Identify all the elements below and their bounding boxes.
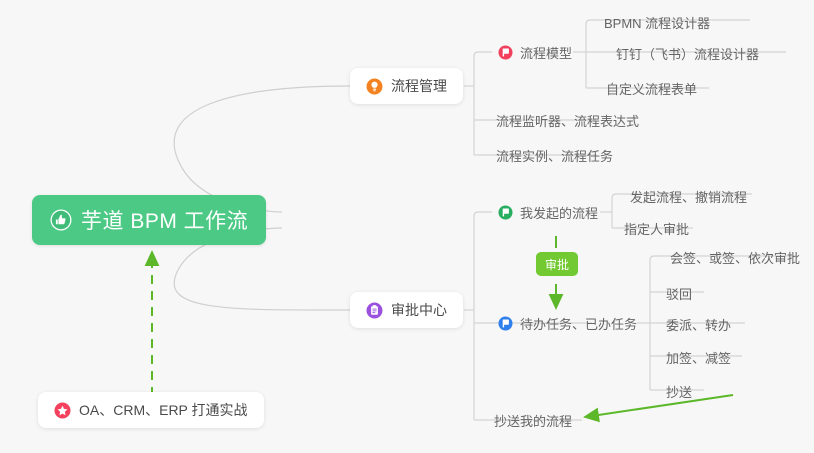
node-carbon-copy[interactable]: 抄送 [660, 378, 698, 404]
node-delegate-transfer[interactable]: 委派、转办 [660, 311, 737, 337]
node-start-cancel-process[interactable]: 发起流程、撤销流程 [624, 183, 753, 209]
node-process-listener-expression[interactable]: 流程监听器、流程表达式 [490, 107, 645, 133]
branch-node-approval-center[interactable]: 审批中心 [350, 292, 463, 328]
node-designated-approver[interactable]: 指定人审批 [618, 215, 695, 241]
root-node-label: 芋道 BPM 工作流 [81, 205, 248, 235]
node-dingtalk-feishu-designer[interactable]: 钉钉（飞书）流程设计器 [610, 40, 765, 66]
node-label-countersign-approval: 会签、或签、依次审批 [670, 248, 800, 267]
node-cc-to-me-process[interactable]: 抄送我的流程 [488, 407, 578, 433]
branch1-connectors [464, 52, 597, 155]
flag-icon [498, 316, 513, 331]
node-reject[interactable]: 驳回 [660, 280, 698, 306]
clipboard-icon [366, 302, 383, 319]
tag-label-approval: 审批 [545, 256, 569, 273]
flag-icon [498, 45, 513, 60]
root-node[interactable]: 芋道 BPM 工作流 [32, 195, 266, 245]
floating-card-oa-crm-erp[interactable]: OA、CRM、ERP 打通实战 [38, 392, 264, 428]
node-process-model[interactable]: 流程模型 [492, 39, 578, 65]
node-label-start-cancel-process: 发起流程、撤销流程 [630, 187, 747, 206]
node-label-add-remove-sign: 加签、减签 [666, 348, 731, 367]
node-process-instance-task[interactable]: 流程实例、流程任务 [490, 142, 619, 168]
floating-card-label-oa-crm-erp: OA、CRM、ERP 打通实战 [79, 400, 248, 420]
node-todo-done-tasks[interactable]: 待办任务、已办任务 [492, 310, 643, 336]
star-icon [54, 402, 71, 419]
bulb-pin-icon [366, 78, 383, 95]
node-countersign-approval[interactable]: 会签、或签、依次审批 [664, 244, 806, 270]
node-bpmn-designer[interactable]: BPMN 流程设计器 [598, 9, 716, 35]
node-label-my-initiated-process: 我发起的流程 [520, 203, 598, 222]
node-label-reject: 驳回 [666, 284, 692, 303]
node-label-todo-done-tasks: 待办任务、已办任务 [520, 314, 637, 333]
node-label-carbon-copy: 抄送 [666, 382, 692, 401]
node-label-dingtalk-feishu-designer: 钉钉（飞书）流程设计器 [616, 44, 759, 63]
node-label-cc-to-me-process: 抄送我的流程 [494, 411, 572, 430]
tag-approval[interactable]: 审批 [536, 252, 578, 276]
node-label-designated-approver: 指定人审批 [624, 219, 689, 238]
node-label-process-listener-expression: 流程监听器、流程表达式 [496, 111, 639, 130]
mindmap-canvas: 芋道 BPM 工作流 流程管理 流程模型 BPMN 流程设计器 钉钉（飞书）流程… [0, 0, 814, 453]
branch-node-process-management[interactable]: 流程管理 [350, 68, 463, 104]
node-label-process-instance-task: 流程实例、流程任务 [496, 146, 613, 165]
node-label-bpmn-designer: BPMN 流程设计器 [604, 13, 710, 32]
node-my-initiated-process[interactable]: 我发起的流程 [492, 199, 604, 225]
node-label-delegate-transfer: 委派、转办 [666, 315, 731, 334]
arrow-chaosong-to-chaosongwode [585, 395, 733, 417]
branch-label-process-management: 流程管理 [391, 76, 447, 96]
thumbs-up-icon [50, 209, 72, 231]
node-label-custom-process-form: 自定义流程表单 [606, 79, 697, 98]
branch-label-approval-center: 审批中心 [391, 300, 447, 320]
node-label-process-model: 流程模型 [520, 43, 572, 62]
node-custom-process-form[interactable]: 自定义流程表单 [600, 75, 703, 101]
node-add-remove-sign[interactable]: 加签、减签 [660, 344, 737, 370]
flag-icon [498, 205, 513, 220]
